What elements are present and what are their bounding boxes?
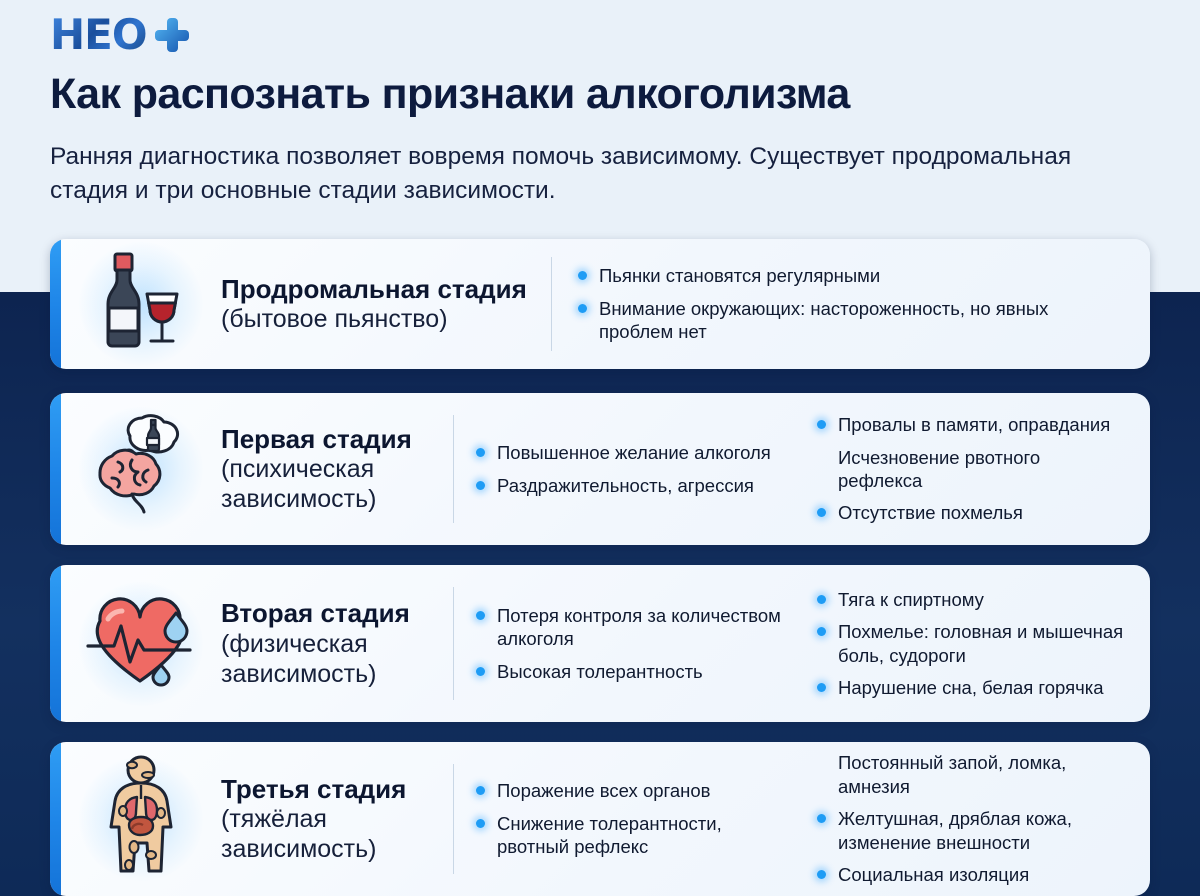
- symptom-item: Раздражительность, агрессия: [476, 474, 785, 497]
- bullet-dot-icon: [476, 667, 485, 676]
- card-inner: Вторая стадия(физическая зависимость)Пот…: [61, 565, 1150, 722]
- symptom-item: Потеря контроля за количеством алкоголя: [476, 604, 785, 651]
- stage-icon-container: [61, 591, 221, 696]
- stage-name: Вторая стадия: [221, 598, 435, 629]
- stage-title-block: Продромальная стадия(бытовое пьянство): [221, 274, 551, 335]
- stage-subtitle: (бытовое пьянство): [221, 304, 533, 334]
- stage-subtitle: (физическая зависимость): [221, 629, 435, 689]
- symptom-text: Желтушная, дряблая кожа, изменение внешн…: [838, 808, 1072, 852]
- symptom-list: Поражение всех органовСнижение толерантн…: [476, 779, 785, 858]
- stage-card: Продромальная стадия(бытовое пьянство)Пь…: [50, 239, 1150, 369]
- card-inner: Третья стадия(тяжёлая зависимость)Пораже…: [61, 742, 1150, 896]
- symptom-text: Снижение толерантности, рвотный рефлекс: [497, 813, 722, 857]
- stage-card: Третья стадия(тяжёлая зависимость)Пораже…: [50, 742, 1150, 896]
- bullet-dot-icon: [476, 786, 485, 795]
- symptom-item: Желтушная, дряблая кожа, изменение внешн…: [817, 807, 1126, 854]
- symptom-text: Тяга к спиртному: [838, 589, 984, 610]
- bullet-dot-icon: [817, 814, 826, 823]
- symptom-column: Постоянный запой, ломка, амнезияЖелтушна…: [795, 742, 1136, 895]
- symptom-text: Повышенное желание алкоголя: [497, 442, 771, 463]
- bullet-dot-icon: [817, 870, 826, 879]
- symptom-text: Раздражительность, агрессия: [497, 475, 754, 496]
- bullet-dot-icon: [817, 508, 826, 517]
- symptom-item: Повышенное желание алкоголя: [476, 441, 785, 464]
- bullet-dot-icon: [817, 420, 826, 429]
- symptom-item: Снижение толерантности, рвотный рефлекс: [476, 812, 785, 859]
- symptom-column: Повышенное желание алкоголяРаздражительн…: [454, 432, 795, 506]
- symptom-text: Потеря контроля за количеством алкоголя: [497, 605, 781, 649]
- card-accent-bar: [50, 393, 61, 545]
- stage-title-block: Первая стадия(психическая зависимость): [221, 424, 453, 515]
- symptom-item: Поражение всех органов: [476, 779, 785, 802]
- card-accent-bar: [50, 239, 61, 369]
- card-accent-bar: [50, 742, 61, 896]
- stage-icon-container: [61, 250, 221, 359]
- symptom-text: Социальная изоляция: [838, 864, 1029, 885]
- symptom-text: Пьянки становятся регулярными: [599, 265, 880, 286]
- brand-name: HEO: [50, 14, 147, 56]
- stage-subtitle: (тяжёлая зависимость): [221, 804, 435, 864]
- bullet-dot-icon: [817, 683, 826, 692]
- stage-card: Вторая стадия(физическая зависимость)Пот…: [50, 565, 1150, 722]
- symptom-columns: Потеря контроля за количеством алкоголяВ…: [454, 579, 1136, 709]
- symptom-columns: Повышенное желание алкоголяРаздражительн…: [454, 404, 1136, 534]
- symptom-column: Пьянки становятся регулярнымиВнимание ок…: [552, 255, 1136, 352]
- bullet-dot-icon: [817, 595, 826, 604]
- stage-subtitle: (психическая зависимость): [221, 454, 435, 514]
- symptom-columns: Поражение всех органовСнижение толерантн…: [454, 742, 1136, 895]
- symptom-list: Повышенное желание алкоголяРаздражительн…: [476, 441, 785, 497]
- symptom-text: Исчезновение рвотного рефлекса: [838, 447, 1040, 491]
- stage-icon-container: [61, 755, 221, 884]
- bullet-dot-icon: [817, 627, 826, 636]
- symptom-columns: Пьянки становятся регулярнымиВнимание ок…: [552, 255, 1136, 352]
- card-inner: Продромальная стадия(бытовое пьянство)Пь…: [61, 239, 1150, 369]
- brand-logo: HEO: [50, 14, 189, 56]
- stage-name: Третья стадия: [221, 774, 435, 805]
- bullet-dot-icon: [476, 448, 485, 457]
- symptom-column: Провалы в памяти, оправданияИсчезновение…: [795, 404, 1136, 534]
- symptom-text: Нарушение сна, белая горячка: [838, 677, 1104, 698]
- symptom-item: Высокая толерантность: [476, 660, 785, 683]
- symptom-list: Потеря контроля за количеством алкоголяВ…: [476, 604, 785, 683]
- card-inner: Первая стадия(психическая зависимость)По…: [61, 393, 1150, 545]
- symptom-list: Пьянки становятся регулярнымиВнимание ок…: [578, 264, 1126, 343]
- symptom-text: Похмелье: головная и мышечная боль, судо…: [838, 621, 1123, 665]
- brain-with-bottle-thought-icon: [82, 412, 200, 527]
- page-title: Как распознать признаки алкоголизма: [50, 70, 1160, 118]
- brain-with-bottle-thought-icon: [82, 412, 200, 522]
- symptom-item: Постоянный запой, ломка, амнезия: [817, 751, 1126, 798]
- symptom-item: Отсутствие похмелья: [817, 501, 1126, 524]
- symptom-item: Социальная изоляция: [817, 863, 1126, 886]
- symptom-text: Постоянный запой, ломка, амнезия: [838, 752, 1066, 796]
- stage-name: Продромальная стадия: [221, 274, 533, 305]
- symptom-column: Поражение всех органовСнижение толерантн…: [454, 770, 795, 867]
- bullet-dot-icon: [476, 611, 485, 620]
- symptom-item: Нарушение сна, белая горячка: [817, 676, 1126, 699]
- symptom-text: Внимание окружающих: настороженность, но…: [599, 298, 1048, 342]
- stage-name: Первая стадия: [221, 424, 435, 455]
- human-body-organs-icon: [93, 755, 189, 879]
- symptom-text: Высокая толерантность: [497, 661, 703, 682]
- wine-bottle-and-glass-icon: [87, 250, 195, 359]
- symptom-text: Поражение всех органов: [497, 780, 711, 801]
- symptom-item: Пьянки становятся регулярными: [578, 264, 1126, 287]
- stage-title-block: Вторая стадия(физическая зависимость): [221, 598, 453, 689]
- symptom-item: Внимание окружающих: настороженность, но…: [578, 297, 1126, 344]
- heart-with-pulse-icon: [82, 591, 200, 691]
- stage-title-block: Третья стадия(тяжёлая зависимость): [221, 774, 453, 865]
- card-accent-bar: [50, 565, 61, 722]
- symptom-item: Исчезновение рвотного рефлекса: [817, 446, 1126, 493]
- human-body-organs-icon: [93, 755, 189, 884]
- bullet-dot-icon: [476, 819, 485, 828]
- symptom-text: Провалы в памяти, оправдания: [838, 414, 1110, 435]
- symptom-item: Тяга к спиртному: [817, 588, 1126, 611]
- symptom-column: Потеря контроля за количеством алкоголяВ…: [454, 595, 795, 692]
- symptom-item: Провалы в памяти, оправдания: [817, 413, 1126, 436]
- stage-card: Первая стадия(психическая зависимость)По…: [50, 393, 1150, 545]
- symptom-list: Тяга к спиртномуПохмелье: головная и мыш…: [817, 588, 1126, 700]
- plus-icon: [155, 18, 189, 52]
- stage-icon-container: [61, 412, 221, 527]
- symptom-column: Тяга к спиртномуПохмелье: головная и мыш…: [795, 579, 1136, 709]
- page-subtitle: Ранняя диагностика позволяет вовремя пом…: [50, 140, 1095, 207]
- heart-with-pulse-icon: [82, 591, 200, 696]
- symptom-list: Постоянный запой, ломка, амнезияЖелтушна…: [817, 751, 1126, 886]
- symptom-list: Провалы в памяти, оправданияИсчезновение…: [817, 413, 1126, 525]
- symptom-item: Похмелье: головная и мышечная боль, судо…: [817, 620, 1126, 667]
- bullet-dot-icon: [578, 271, 587, 280]
- wine-bottle-and-glass-icon: [87, 250, 195, 354]
- bullet-dot-icon: [578, 304, 587, 313]
- bullet-dot-icon: [476, 481, 485, 490]
- symptom-text: Отсутствие похмелья: [838, 502, 1023, 523]
